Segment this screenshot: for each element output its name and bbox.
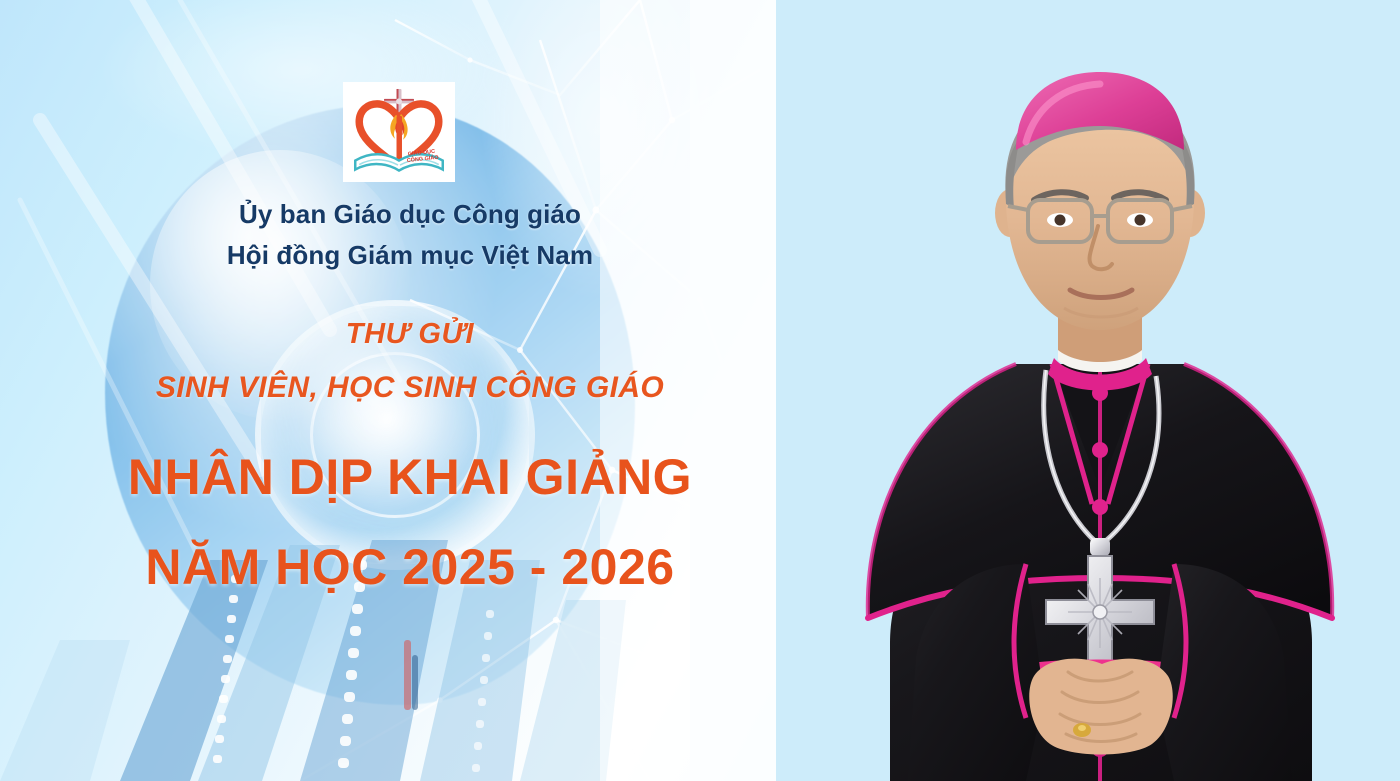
bishop-portrait-illustration — [820, 58, 1380, 781]
occasion-line-2: NĂM HỌC 2025 - 2026 — [30, 541, 790, 593]
logo-card: GIÁO DỤC CÔNG GIÁO — [343, 82, 455, 182]
bishop-head — [995, 72, 1205, 362]
organization-line-2: Hội đồng Giám mục Việt Nam — [30, 237, 790, 275]
text-column: Ủy ban Giáo dục Công giáo Hội đồng Giám … — [30, 196, 790, 593]
bishop-portrait — [820, 58, 1380, 781]
giao-duc-cong-giao-logo: GIÁO DỤC CÔNG GIÁO — [349, 86, 449, 178]
poster-root: GIÁO DỤC CÔNG GIÁO Ủy ban Giáo dục Công … — [0, 0, 1400, 781]
organization-line-1: Ủy ban Giáo dục Công giáo — [30, 196, 790, 234]
letter-recipients: SINH VIÊN, HỌC SINH CÔNG GIÁO — [30, 371, 790, 405]
clasped-hands — [1029, 659, 1173, 755]
occasion-line-1: NHÂN DỊP KHAI GIẢNG — [30, 451, 790, 503]
letter-kicker: THƯ GỬI — [30, 318, 790, 351]
